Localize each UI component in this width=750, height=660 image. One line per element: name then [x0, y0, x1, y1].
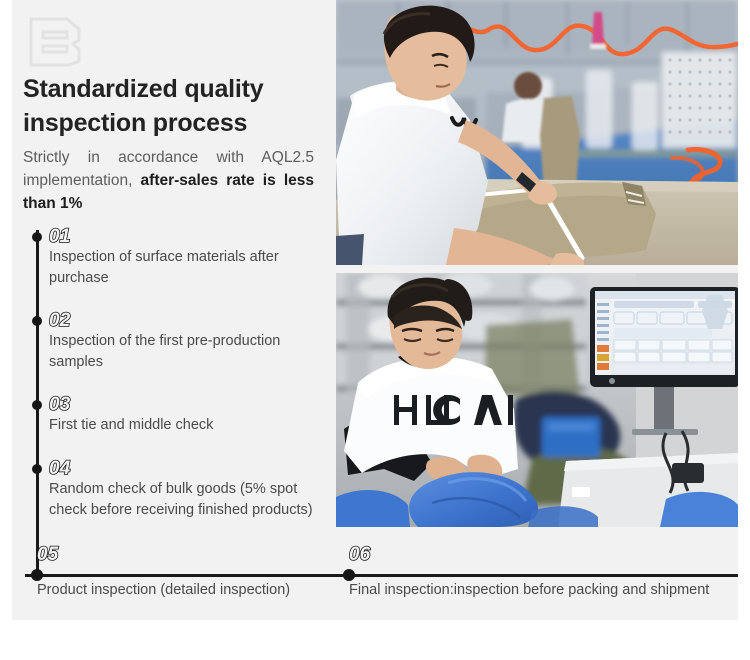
step-number: 06: [349, 544, 370, 565]
step-description: Final inspection:inspection before packi…: [349, 580, 709, 600]
step-number: 04: [49, 458, 70, 479]
page-subtitle: Strictly in accordance with AQL2.5 imple…: [23, 146, 314, 215]
step-description: First tie and middle check: [49, 415, 327, 436]
timeline-dot-icon: [32, 464, 42, 474]
left-content-column: Standardized quality inspection process …: [12, 0, 336, 620]
step-description: Product inspection (detailed inspection): [37, 580, 290, 600]
step-description: Inspection of surface materials after pu…: [49, 247, 327, 289]
step-number: 03: [49, 394, 70, 415]
timeline-dot-icon: [32, 232, 42, 242]
timeline-dot-icon: [32, 400, 42, 410]
step-number: 01: [49, 226, 70, 247]
page-title: Standardized quality inspection process: [23, 72, 323, 140]
photo-worker-inspecting-blue-garment: [336, 273, 738, 527]
timeline-dot-icon: [32, 316, 42, 326]
step-number: 05: [37, 544, 58, 565]
step-number: 02: [49, 310, 70, 331]
horizontal-timeline-line: [25, 574, 738, 577]
page-root: Standardized quality inspection process …: [0, 0, 750, 660]
step-description: Inspection of the first pre-production s…: [49, 331, 327, 373]
letter-b-outline-logo-icon: [23, 16, 85, 68]
photo-quality-inspector-measuring-garment: [336, 0, 738, 265]
step-description: Random check of bulk goods (5% spot chec…: [49, 479, 327, 521]
quality-inspection-card: Standardized quality inspection process …: [12, 0, 738, 620]
